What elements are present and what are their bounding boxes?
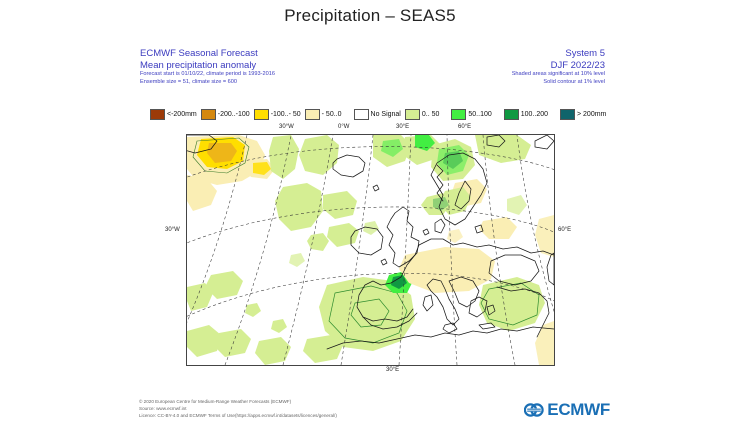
legend-swatch-icon [405, 109, 420, 120]
axis-label-top-60e: 60°E [458, 124, 471, 130]
header-right-block: System 5 DJF 2022/23 Shaded areas signif… [512, 48, 605, 86]
legend-item-label: No Signal [371, 110, 401, 119]
season-label: DJF 2022/23 [512, 60, 605, 72]
axis-label-right-60e: 60°E [558, 227, 571, 233]
footer-credits: © 2020 European Centre for Medium-Range … [139, 398, 337, 419]
copyright-line: © 2020 European Centre for Medium-Range … [139, 398, 337, 405]
legend-item: <-200mm [150, 109, 197, 120]
ensemble-size-label: Ensemble size = 51, climate size = 600 [140, 79, 275, 87]
legend-swatch-icon [305, 109, 320, 120]
map-plot-area [186, 134, 555, 366]
legend-item: 0.. 50 [405, 109, 440, 120]
forecast-start-label: Forecast start is 01/10/22, climate peri… [140, 71, 275, 79]
legend-swatch-icon [354, 109, 369, 120]
legend-item-label: <-200mm [167, 110, 197, 119]
legend-item-label: 100..200 [521, 110, 548, 119]
forecast-source-label: ECMWF Seasonal Forecast [140, 48, 275, 60]
source-line: Source: www.ecmwf.int [139, 405, 337, 412]
axis-label-bottom-30e: 30°E [386, 367, 399, 373]
shading-significance-label: Shaded areas significant at 10% level [512, 71, 605, 79]
contour-significance-label: Solid contour at 1% level [512, 79, 605, 87]
axis-label-left-30w: 30°W [165, 227, 180, 233]
legend-item: - 50..0 [305, 109, 342, 120]
page-title: Precipitation – SEAS5 [0, 6, 740, 26]
legend-swatch-icon [201, 109, 216, 120]
legend-swatch-icon [150, 109, 165, 120]
map-graphic [187, 135, 554, 365]
legend-swatch-icon [504, 109, 519, 120]
legend-item-label: -100..- 50 [271, 110, 301, 119]
legend-item: 50..100 [451, 109, 491, 120]
anomaly-shading-layer [187, 135, 554, 365]
axis-label-top-30e: 30°E [396, 124, 409, 130]
legend-item: 100..200 [504, 109, 548, 120]
system-label: System 5 [512, 48, 605, 60]
figure-root: Precipitation – SEAS5 ECMWF Seasonal For… [0, 0, 740, 438]
legend-item-no-signal: No Signal [354, 109, 401, 120]
licence-line: Licence: CC-BY-4.0 and ECMWF Terms of Us… [139, 412, 337, 419]
legend-item: > 200mm [560, 109, 606, 120]
ecmwf-wordmark: ECMWF [547, 401, 610, 419]
legend-item-label: > 200mm [577, 110, 606, 119]
legend-item: -100..- 50 [254, 109, 301, 120]
legend-swatch-icon [560, 109, 575, 120]
ecmwf-logo: ECMWF [524, 400, 610, 420]
variable-label: Mean precipitation anomaly [140, 60, 275, 72]
axis-label-top-0w: 0°W [338, 124, 349, 130]
legend-item-label: -200..-100 [218, 110, 250, 119]
legend-swatch-icon [254, 109, 269, 120]
legend-item-label: 0.. 50 [422, 110, 440, 119]
legend-swatch-icon [451, 109, 466, 120]
legend-item: -200..-100 [201, 109, 250, 120]
color-legend: <-200mm -200..-100 -100..- 50 - 50..0 No… [150, 107, 595, 121]
legend-item-label: - 50..0 [322, 110, 342, 119]
map-container: 30°W 0°W 30°E 60°E 30°W 60°E 30°E [186, 134, 555, 366]
legend-item-label: 50..100 [468, 110, 491, 119]
axis-label-top-30w: 30°W [279, 124, 294, 130]
header-left-block: ECMWF Seasonal Forecast Mean precipitati… [140, 48, 275, 86]
ecmwf-swirl-icon [524, 401, 544, 419]
